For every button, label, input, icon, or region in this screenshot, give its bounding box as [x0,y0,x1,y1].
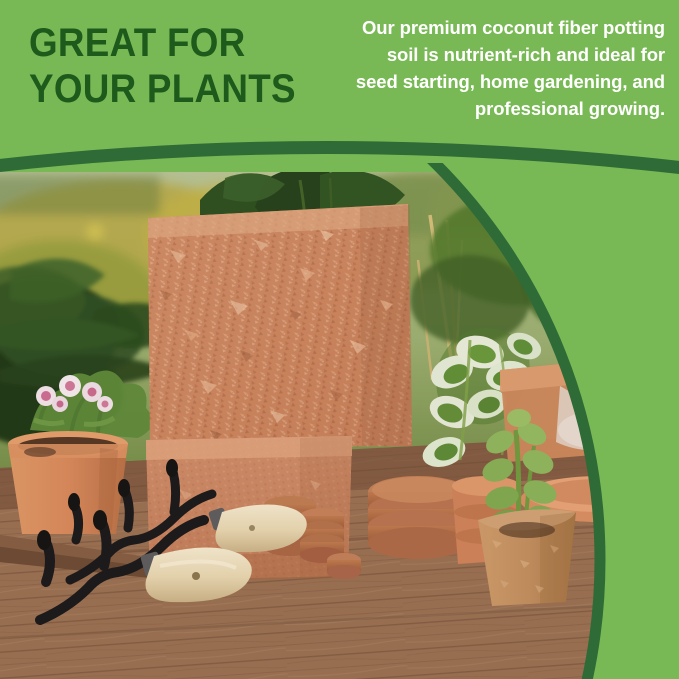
photo-illustration [0,0,679,679]
product-photo [0,0,679,679]
product-banner: GREAT FOR YOUR PLANTS Our premium coconu… [0,0,679,679]
